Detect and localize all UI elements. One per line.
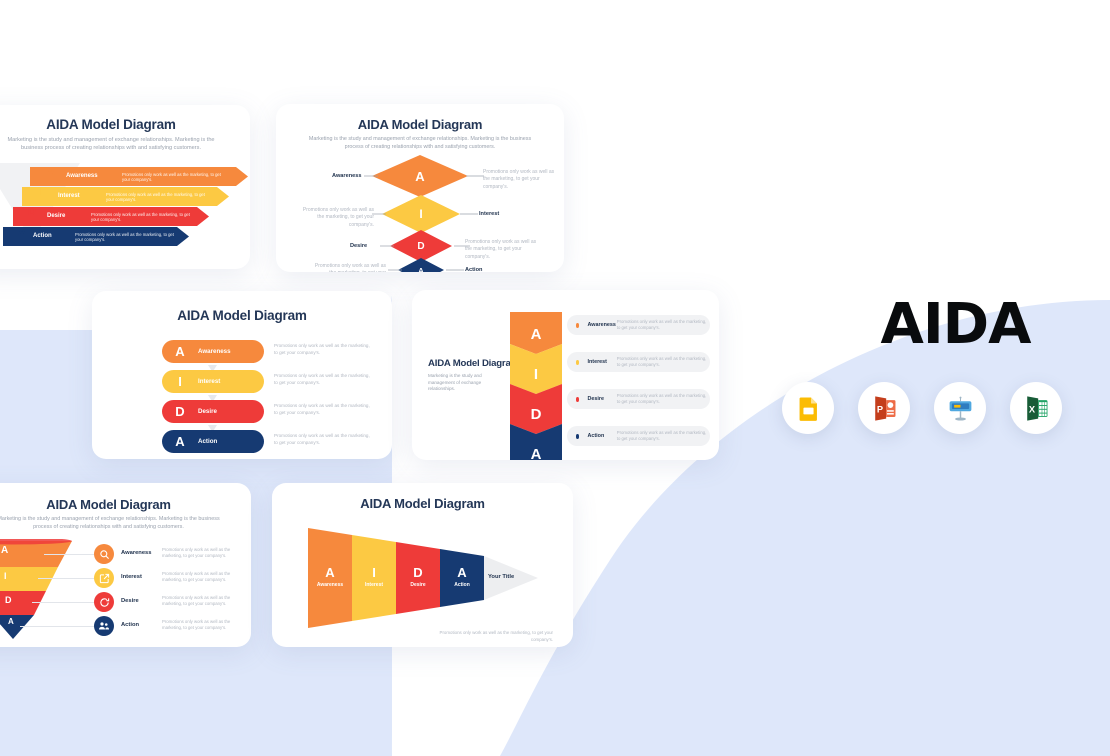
arrow-label: Interest	[58, 193, 80, 199]
step-label: Action	[440, 582, 484, 588]
slide-card-horizontal-funnel[interactable]: AIDA Model Diagram A Awareness I Interes…	[272, 483, 573, 647]
step-desc: Promotions only work as well as the mark…	[617, 319, 710, 332]
people-glyph	[98, 620, 110, 632]
step-letter: A	[8, 617, 14, 626]
step-letter: D	[510, 406, 562, 423]
step-letter: A	[1, 545, 8, 556]
step-pill[interactable]: D Desire	[162, 400, 264, 423]
step-letter: D	[162, 404, 198, 419]
connector-line	[38, 578, 96, 579]
slide-card-arrows[interactable]: AIDA Model Diagram Marketing is the stud…	[0, 105, 250, 269]
legend-row[interactable]: Awareness Promotions only work as well a…	[567, 315, 710, 335]
step-letter: D	[28, 206, 36, 218]
step-label: Awareness	[587, 322, 616, 328]
step-letter: A	[308, 565, 352, 580]
arrow-label: Action	[33, 233, 52, 239]
search-glyph	[99, 549, 110, 560]
svg-text:X: X	[1028, 404, 1035, 414]
arrow-band[interactable]: Interest Promotions only work as well as…	[22, 187, 229, 206]
step-label: Action	[587, 433, 616, 439]
step-pill[interactable]: A Awareness	[162, 340, 264, 363]
step-label: Desire	[350, 242, 367, 250]
status-dot	[576, 323, 579, 328]
slide-card-diamonds[interactable]: AIDA Model Diagram Marketing is the stud…	[276, 104, 564, 272]
step-letter: A	[510, 326, 562, 343]
step-label: Awareness	[198, 348, 231, 355]
step-letter: I	[162, 374, 198, 389]
step-desc: Promotions only work as well as the mark…	[312, 263, 386, 272]
step-letter: I	[352, 565, 396, 580]
step-label: Desire	[587, 396, 616, 402]
step-desc: Promotions only work as well as the mark…	[483, 169, 557, 191]
refresh-glyph	[99, 597, 110, 608]
step-letter: D	[396, 565, 440, 580]
step-letter: A	[162, 344, 198, 359]
arrow-label: Desire	[47, 213, 65, 219]
page-title: AIDA Model Diagram	[0, 497, 251, 512]
connector-line	[20, 626, 96, 627]
arrow-desc: Promotions only work as well as the mark…	[122, 172, 227, 184]
people-icon[interactable]	[94, 616, 114, 636]
step-letter: I	[38, 186, 41, 198]
refresh-icon[interactable]	[94, 592, 114, 612]
step-pill[interactable]: I Interest	[162, 370, 264, 393]
edit-icon[interactable]	[94, 568, 114, 588]
step-label: Awareness	[121, 550, 152, 556]
step-label: Action	[198, 438, 217, 445]
page-title: AIDA Model Diagram	[272, 496, 573, 511]
excel-glyph: X	[1023, 395, 1050, 422]
page-subtitle: Marketing is the study and management of…	[304, 136, 536, 152]
step-desc: Promotions only work as well as the mark…	[274, 403, 370, 417]
page-title: AIDA Model Diagram	[428, 358, 519, 369]
step-letter: A	[372, 155, 468, 197]
arrow-band[interactable]: Awareness Promotions only work as well a…	[30, 167, 248, 186]
svg-text:P: P	[876, 404, 882, 414]
footer-note: Promotions only work as well as the mark…	[429, 630, 553, 643]
step-label: Desire	[396, 582, 440, 588]
arrow-desc: Promotions only work as well as the mark…	[91, 212, 196, 224]
step-label: Action	[465, 266, 482, 272]
step-desc: Promotions only work as well as the mark…	[162, 547, 250, 560]
step-desc: Promotions only work as well as the mark…	[617, 356, 710, 369]
brand-wordmark: AIDA	[843, 292, 1068, 357]
step-letter: D	[5, 595, 12, 605]
legend-row[interactable]: Interest Promotions only work as well as…	[567, 352, 710, 372]
slide-card-chevrons[interactable]: AIDA Model Diagram Marketing is the stud…	[412, 290, 719, 460]
page-subtitle: Marketing is the study and management of…	[0, 516, 229, 532]
arrow-desc: Promotions only work as well as the mark…	[75, 232, 180, 244]
step-letter: A	[510, 446, 562, 460]
step-desc: Promotions only work as well as the mark…	[274, 343, 370, 357]
step-letter: I	[510, 366, 562, 383]
arrow-label: Awareness	[66, 173, 98, 179]
legend-row[interactable]: Desire Promotions only work as well as t…	[567, 389, 710, 409]
step-letter: A	[47, 166, 55, 178]
status-dot	[576, 360, 579, 365]
step-label: Desire	[121, 598, 139, 604]
status-dot	[576, 434, 579, 439]
step-letter: A	[162, 434, 198, 449]
step-desc: Promotions only work as well as the mark…	[274, 373, 370, 387]
step-label: Awareness	[308, 582, 352, 588]
step-label: Action	[121, 622, 139, 628]
keynote-icon[interactable]	[934, 382, 986, 434]
step-label: Interest	[121, 574, 142, 580]
step-desc: Promotions only work as well as the mark…	[162, 571, 250, 584]
step-letter: A	[440, 565, 484, 580]
arrow-desc: Promotions only work as well as the mark…	[106, 192, 211, 204]
step-letter: A	[398, 258, 444, 272]
step-desc: Promotions only work as well as the mark…	[617, 393, 710, 406]
step-desc: Promotions only work as well as the mark…	[162, 595, 250, 608]
step-label: Interest	[198, 378, 220, 385]
step-label: Interest	[587, 359, 616, 365]
step-desc: Promotions only work as well as the mark…	[465, 239, 539, 261]
arrow-band[interactable]: Desire Promotions only work as well as t…	[13, 207, 209, 226]
page-subtitle: Marketing is the study and management of…	[428, 373, 496, 393]
connector-line	[44, 554, 96, 555]
google-slides-glyph	[795, 395, 822, 422]
powerpoint-glyph: P	[871, 395, 898, 422]
step-desc: Promotions only work as well as the mark…	[274, 433, 370, 447]
step-label: Interest	[479, 210, 499, 218]
step-label: Interest	[352, 582, 396, 588]
google-slides-icon[interactable]	[782, 382, 834, 434]
step-desc: Promotions only work as well as the mark…	[300, 207, 374, 229]
slide-card-funnel[interactable]: AIDA Model Diagram Marketing is the stud…	[0, 483, 251, 647]
step-desc: Promotions only work as well as the mark…	[617, 430, 710, 443]
step-letter: I	[4, 571, 7, 581]
step-label: Desire	[198, 408, 217, 415]
powerpoint-icon[interactable]: P	[858, 382, 910, 434]
step-letter: A	[18, 226, 26, 238]
connector-line	[32, 602, 96, 603]
edit-glyph	[99, 573, 110, 584]
step-letter: I	[382, 195, 460, 233]
keynote-glyph	[946, 394, 975, 423]
page-subtitle: Marketing is the study and management of…	[0, 136, 226, 152]
slide-card-pills[interactable]: AIDA Model Diagram A Awareness Promotion…	[92, 291, 392, 459]
arrow-band[interactable]: Action Promotions only work as well as t…	[3, 227, 189, 246]
step-desc: Promotions only work as well as the mark…	[162, 619, 250, 632]
page-title: AIDA Model Diagram	[92, 308, 392, 323]
page-title: AIDA Model Diagram	[0, 117, 250, 132]
poster-canvas: AIDA Model Diagram Marketing is the stud…	[0, 0, 1110, 756]
excel-icon[interactable]: X	[1010, 382, 1062, 434]
status-dot	[576, 397, 579, 402]
page-title: AIDA Model Diagram	[276, 117, 564, 132]
search-icon[interactable]	[94, 544, 114, 564]
legend-row[interactable]: Action Promotions only work as well as t…	[567, 426, 710, 446]
step-label: Awareness	[332, 172, 361, 180]
step-pill[interactable]: A Action	[162, 430, 264, 453]
your-title-label: Your Title	[488, 574, 514, 580]
